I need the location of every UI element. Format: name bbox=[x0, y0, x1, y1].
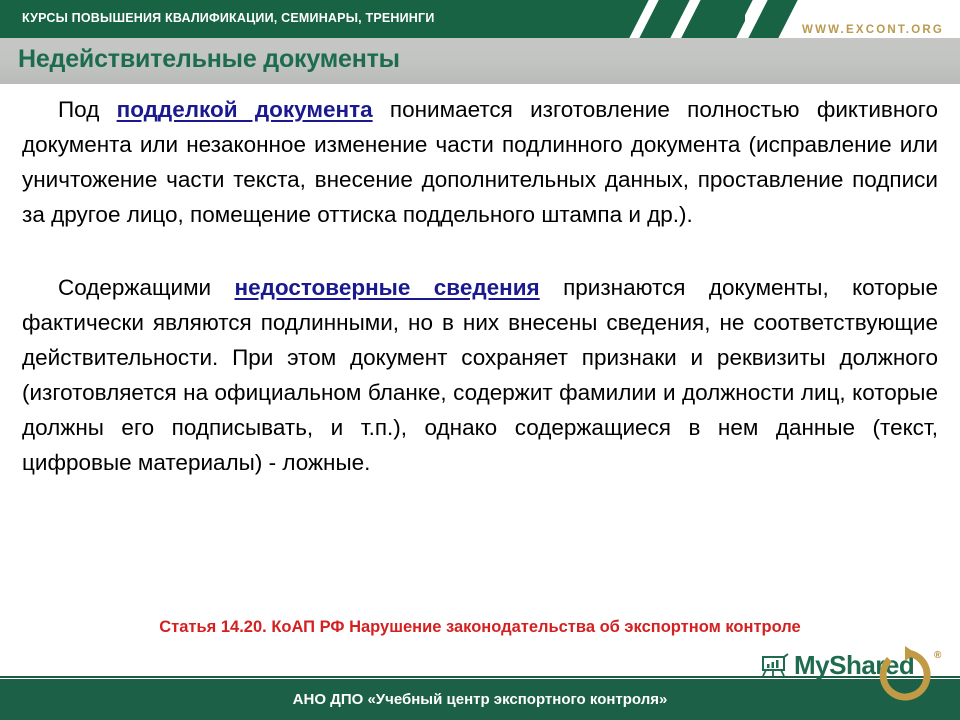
paragraph-false-info: Содержащими недостоверные сведения призн… bbox=[0, 270, 960, 480]
slide-title: Недействительные документы bbox=[18, 45, 400, 74]
article-reference-note: Статья 14.20. КоАП РФ Нарушение законода… bbox=[0, 618, 960, 637]
slide-content: Под подделкой документа понимается изгот… bbox=[0, 92, 960, 480]
paragraph-forgery: Под подделкой документа понимается изгот… bbox=[0, 92, 960, 232]
footer-divider bbox=[0, 676, 960, 678]
banner-tagline: КУРСЫ ПОВЫШЕНИЯ КВАЛИФИКАЦИИ, СЕМИНАРЫ, … bbox=[22, 11, 435, 25]
keyword-false-info: недостоверные сведения bbox=[234, 275, 539, 300]
keyword-forgery: подделкой документа bbox=[117, 97, 373, 122]
projector-icon bbox=[760, 652, 790, 678]
paragraph-false-info-before: Содержащими bbox=[58, 275, 211, 300]
paragraph-false-info-after: признаются документы, которые фактически… bbox=[22, 275, 938, 475]
paragraph-forgery-before: Под bbox=[58, 97, 99, 122]
registered-trademark-icon: ® bbox=[934, 650, 941, 661]
website-url: WWW.EXCONT.ORG bbox=[802, 24, 944, 36]
footer-organization: АНО ДПО «Учебный центр экспортного контр… bbox=[0, 691, 960, 708]
